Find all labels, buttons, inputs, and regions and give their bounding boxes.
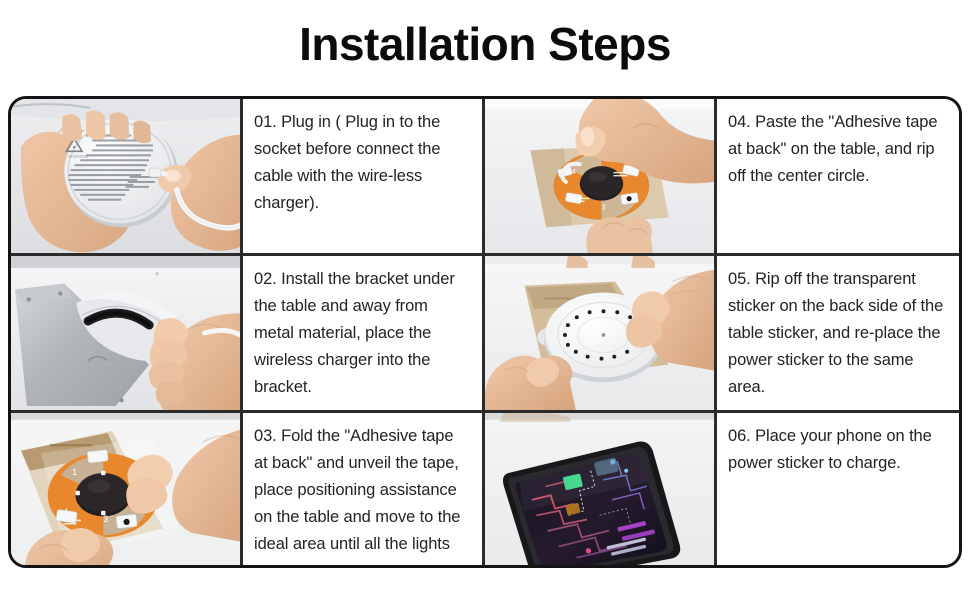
caption-step-05: 05. Rip off the transparent sticker on t… bbox=[717, 256, 959, 410]
steps-grid: WARNING bbox=[11, 99, 959, 565]
svg-text:4: 4 bbox=[572, 169, 576, 176]
caption-step-04: 04. Paste the "Adhesive tape at back" on… bbox=[717, 99, 959, 253]
step-cell-02: 02. Install the bracket under the table … bbox=[11, 256, 485, 413]
page-title: Installation Steps bbox=[0, 14, 970, 74]
svg-text:WARNING: WARNING bbox=[68, 154, 88, 159]
svg-text:3: 3 bbox=[103, 514, 108, 524]
steps-grid-frame: WARNING bbox=[8, 96, 962, 568]
caption-step-06: 06. Place your phone on the power sticke… bbox=[717, 413, 959, 568]
step-cell-04: 4 3 bbox=[485, 99, 959, 256]
caption-step-01: 01. Plug in ( Plug in to the socket befo… bbox=[243, 99, 482, 253]
caption-step-02: 02. Install the bracket under the table … bbox=[243, 256, 482, 410]
caption-step-03: 03. Fold the "Adhesive tape at back" and… bbox=[243, 413, 482, 568]
photo-step-03-fold-tape-position: 1 2 3 4 bbox=[11, 413, 243, 568]
step-cell-06: 06. Place your phone on the power sticke… bbox=[485, 413, 959, 568]
step-cell-03: 1 2 3 4 bbox=[11, 413, 485, 568]
photo-step-04-paste-adhesive-tape: 4 3 bbox=[485, 99, 717, 253]
installation-steps-infographic: Installation Steps bbox=[0, 0, 970, 600]
photo-step-01-charger-and-cable: WARNING bbox=[11, 99, 243, 253]
photo-step-05-rip-transparent-sticker bbox=[485, 256, 717, 410]
photo-step-06-place-phone bbox=[485, 413, 717, 568]
step-cell-05: 05. Rip off the transparent sticker on t… bbox=[485, 256, 959, 413]
step-cell-01: WARNING bbox=[11, 99, 485, 256]
svg-text:1: 1 bbox=[72, 467, 77, 477]
photo-step-02-install-bracket bbox=[11, 256, 243, 410]
svg-text:3: 3 bbox=[601, 205, 605, 212]
